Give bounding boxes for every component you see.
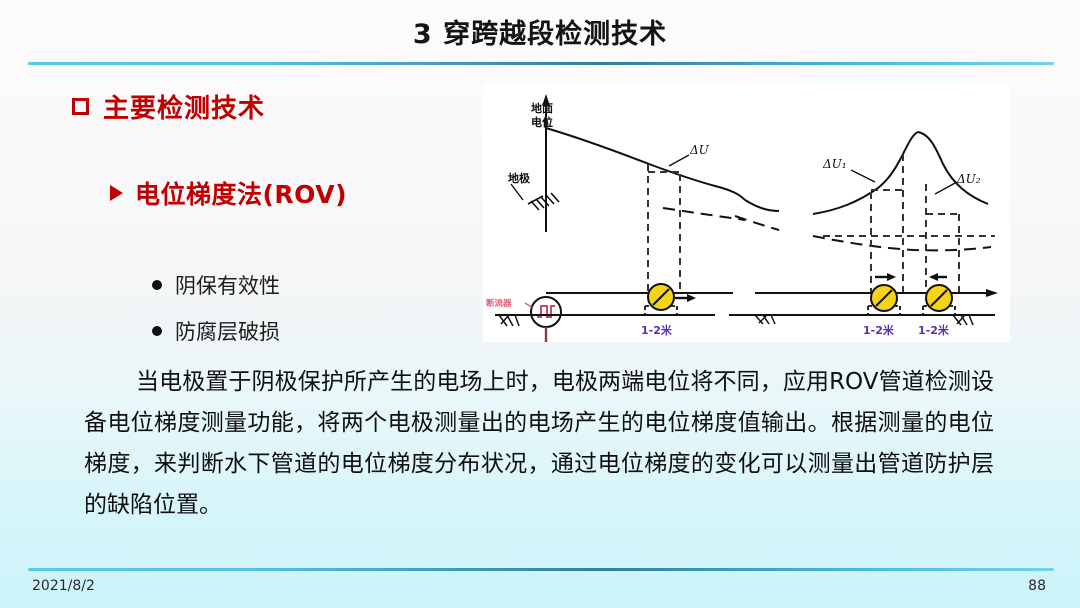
slide-root: 3 穿跨越段检测技术 主要检测技术 电位梯度法(ROV) 阴保有效性 防腐层破损	[0, 0, 1080, 608]
figure-label-axis-line1: 地面	[531, 101, 553, 115]
footer-date: 2021/8/2	[32, 578, 95, 594]
bullet-list: 阴保有效性 防腐层破损	[152, 270, 280, 362]
arrow-bullet-icon	[110, 185, 123, 201]
figure-label-axis-line2: 电位	[531, 115, 553, 129]
figure-label-span-3: 1-2米	[918, 323, 950, 337]
page-title: 3 穿跨越段检测技术	[0, 12, 1080, 51]
round-bullet-icon	[152, 326, 162, 336]
section-heading-sub: 电位梯度法(ROV)	[110, 175, 347, 211]
square-bullet-icon	[72, 98, 89, 115]
footer-divider	[28, 568, 1054, 571]
header-divider	[28, 62, 1054, 65]
list-item-label: 防腐层破损	[175, 316, 280, 346]
section-heading-main-label: 主要检测技术	[103, 88, 265, 125]
figure-label-interrupter: 断流器	[486, 298, 512, 309]
rov-potential-gradient-diagram: 地面 电位 地极 断流器 ΔU ΔU₁ ΔU₂ 1-2米 1-2米 1-2米 漏…	[483, 84, 1010, 342]
list-item-label: 阴保有效性	[175, 270, 280, 300]
body-paragraph: 当电极置于阴极保护所产生的电场上时，电极两端电位将不同，应用ROV管道检测设备电…	[84, 362, 994, 526]
figure-label-span-1: 1-2米	[641, 323, 673, 337]
list-item: 阴保有效性	[152, 270, 280, 300]
figure-label-delta-u1: ΔU₁	[822, 157, 847, 171]
round-bullet-icon	[152, 280, 162, 290]
figure-label-delta-u2: ΔU₂	[956, 172, 981, 186]
footer-page-number: 88	[1028, 578, 1046, 594]
section-heading-sub-label: 电位梯度法(ROV)	[135, 175, 347, 211]
figure-label-span-2: 1-2米	[863, 323, 895, 337]
figure-label-delta-u: ΔU	[689, 143, 710, 157]
section-heading-main: 主要检测技术	[72, 88, 265, 125]
figure-label-ground-electrode: 地极	[508, 171, 531, 185]
list-item: 防腐层破损	[152, 316, 280, 346]
